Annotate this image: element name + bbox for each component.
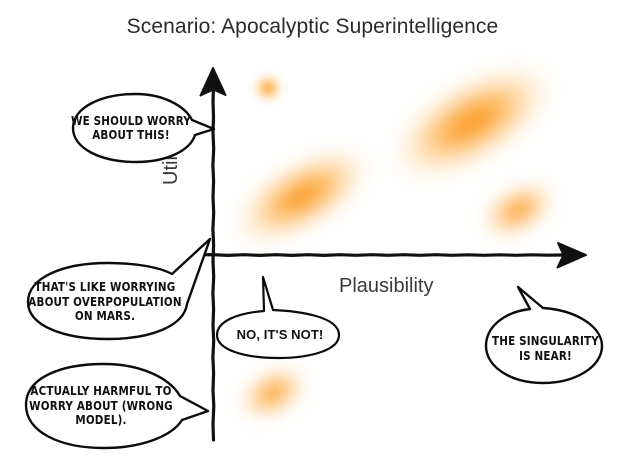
callout-we-should-worry[interactable]: WE SHOULD WORRY ABOUT THIS!: [62, 88, 222, 168]
callout-wrong-model[interactable]: ACTUALLY HARMFUL TO WORRY ABOUT (WRONG M…: [12, 356, 212, 456]
x-axis-line: [196, 255, 562, 256]
callout-no-its-not-shape: [205, 270, 355, 360]
callout-wrong-model-shape: [12, 356, 212, 456]
callout-we-should-worry-shape: [62, 88, 222, 168]
callout-overpopulation-mars-shape: [12, 234, 212, 344]
callout-overpopulation-mars[interactable]: THAT'S LIKE WORRYING ABOUT OVERPOPULATIO…: [12, 234, 212, 344]
callout-no-its-not[interactable]: NO, IT'S NOT!: [205, 270, 355, 360]
scenario-chart: Scenario: Apocalyptic Superintelligence: [0, 0, 625, 468]
callout-singularity-near-shape: [478, 285, 613, 390]
callout-singularity-near[interactable]: THE SINGULARITY IS NEAR!: [478, 285, 613, 390]
